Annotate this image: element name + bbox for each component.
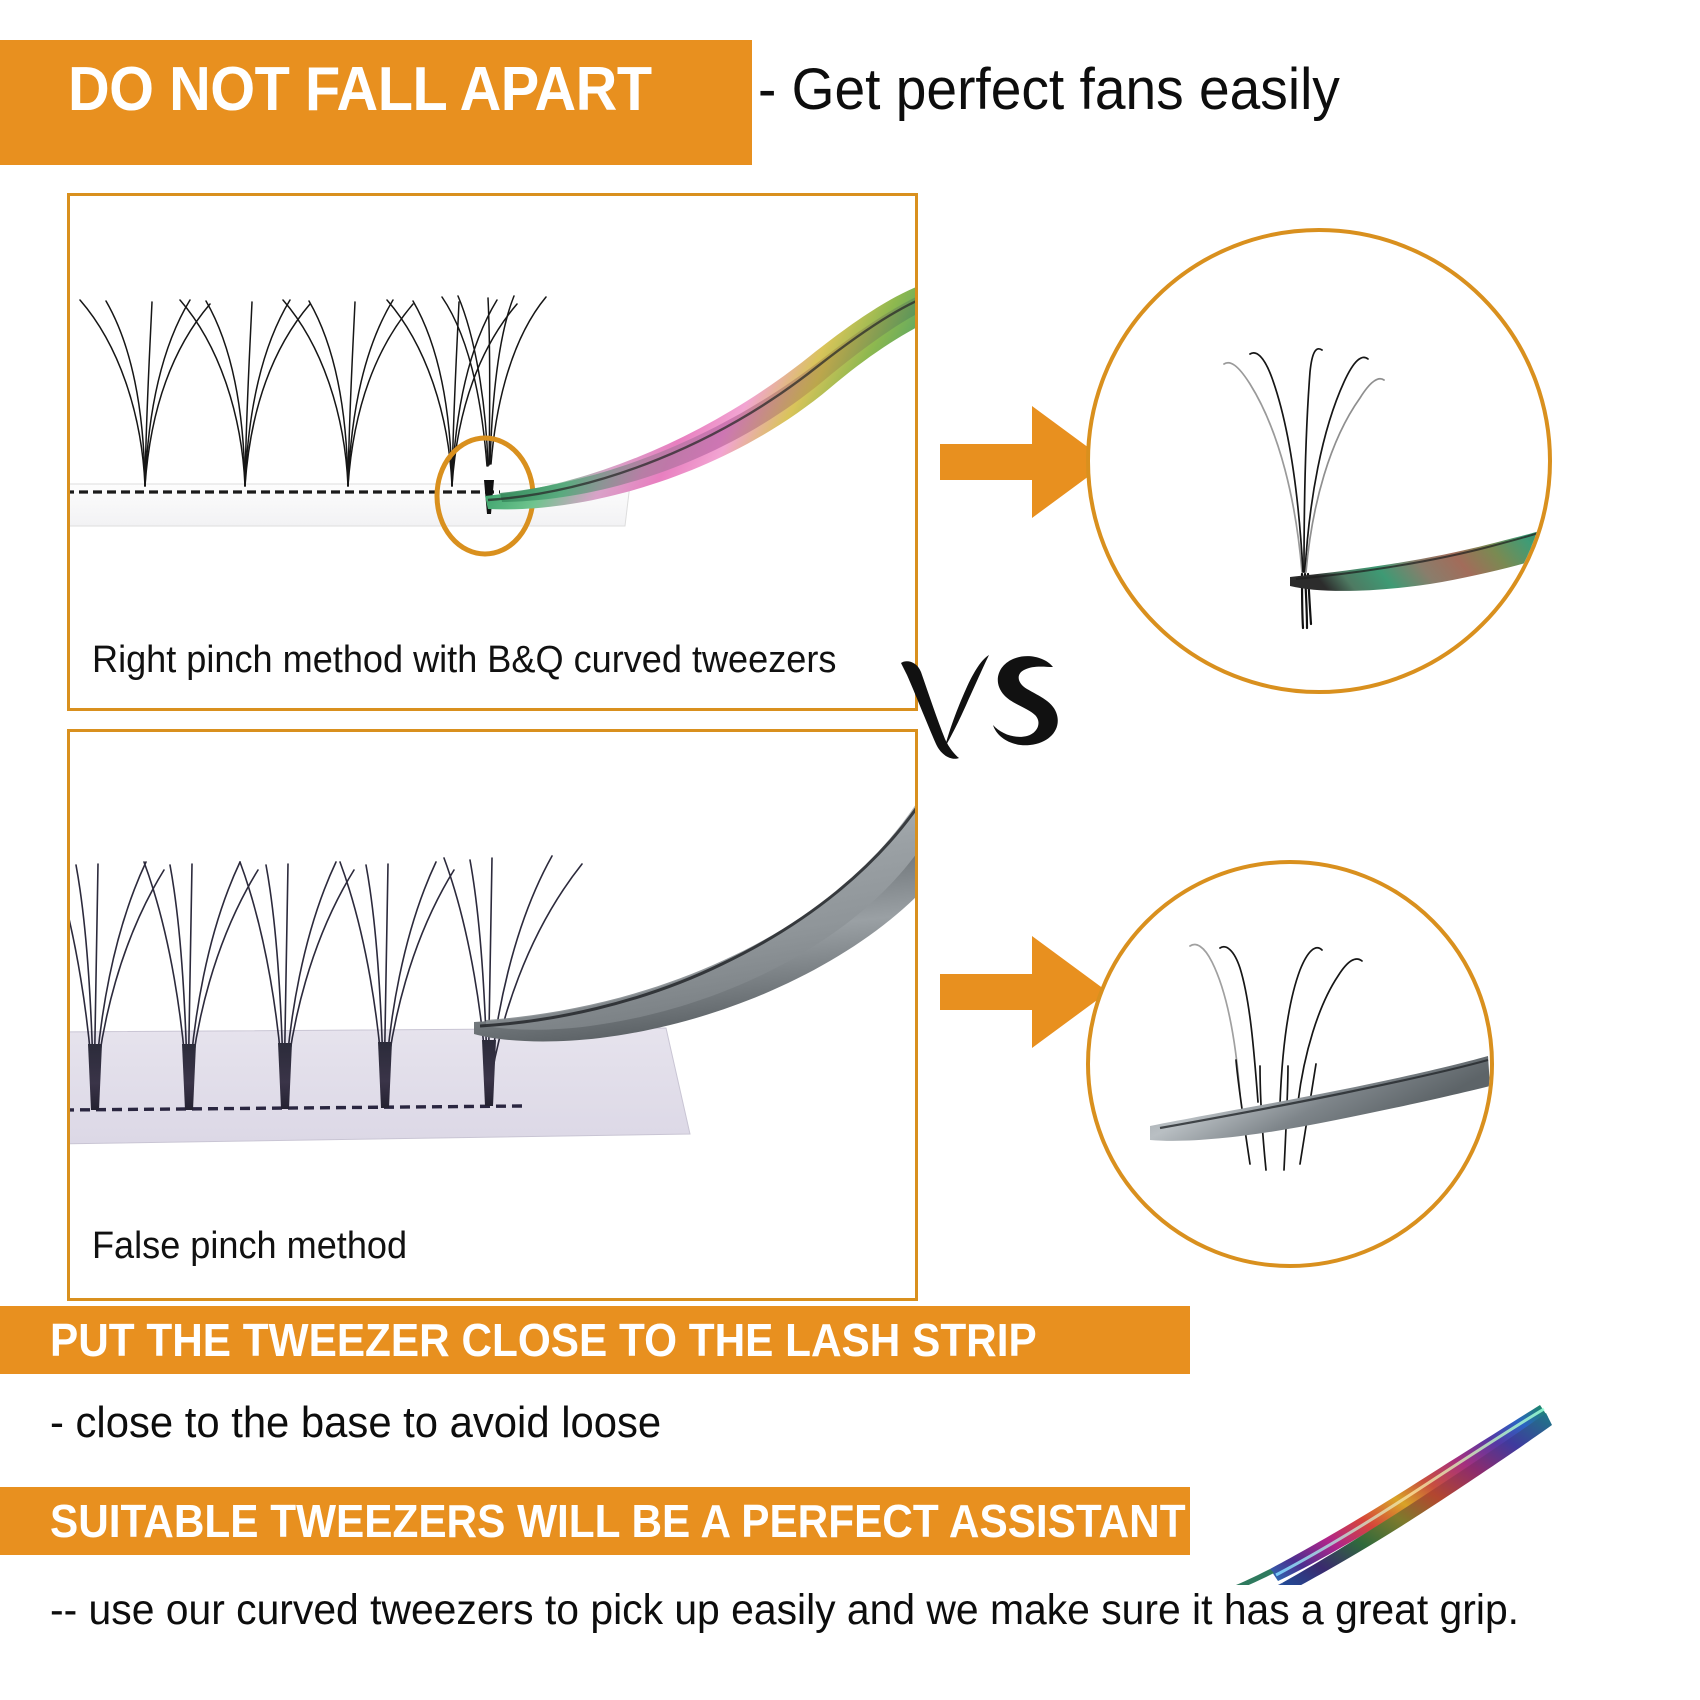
tip-banner-2-label: SUITABLE TWEEZERS WILL BE A PERFECT ASSI… xyxy=(50,1494,1186,1548)
panel-right-pinch-method: Right pinch method with B&Q curved tweez… xyxy=(67,193,918,711)
arrow-right-icon xyxy=(940,930,1110,1055)
bad-fan-scene xyxy=(1090,864,1490,1264)
lash-fan-group xyxy=(80,296,546,486)
tip-note-2: -- use our curved tweezers to pick up ea… xyxy=(50,1586,1519,1635)
header-badge-label: DO NOT FALL APART xyxy=(68,54,652,125)
result-good-fan-circle xyxy=(1086,228,1552,694)
result-bad-fan-circle xyxy=(1086,860,1494,1268)
silver-curved-tweezers xyxy=(474,734,915,1041)
panel-caption: Right pinch method with B&Q curved tweez… xyxy=(92,639,836,682)
tip-banner-1-label: PUT THE TWEEZER CLOSE TO THE LASH STRIP xyxy=(50,1313,1037,1367)
iridescent-curved-tweezers xyxy=(485,282,915,509)
rainbow-curved-tweezers-image xyxy=(1230,1355,1560,1585)
vs-label xyxy=(893,645,1073,765)
right-pinch-scene xyxy=(70,196,915,708)
infographic-canvas: DO NOT FALL APART - Get perfect fans eas… xyxy=(0,0,1700,1700)
header-subtitle: - Get perfect fans easily xyxy=(758,56,1340,123)
panel-caption: False pinch method xyxy=(92,1225,407,1268)
silver-tweezer-tip xyxy=(1150,1056,1490,1141)
iridescent-tweezer-tip xyxy=(1290,524,1548,591)
false-pinch-scene xyxy=(70,732,915,1298)
good-fan-scene xyxy=(1090,232,1548,690)
arrow-right-icon xyxy=(940,400,1110,525)
panel-false-pinch-method: False pinch method xyxy=(67,729,918,1301)
tip-note-1: - close to the base to avoid loose xyxy=(50,1398,661,1448)
